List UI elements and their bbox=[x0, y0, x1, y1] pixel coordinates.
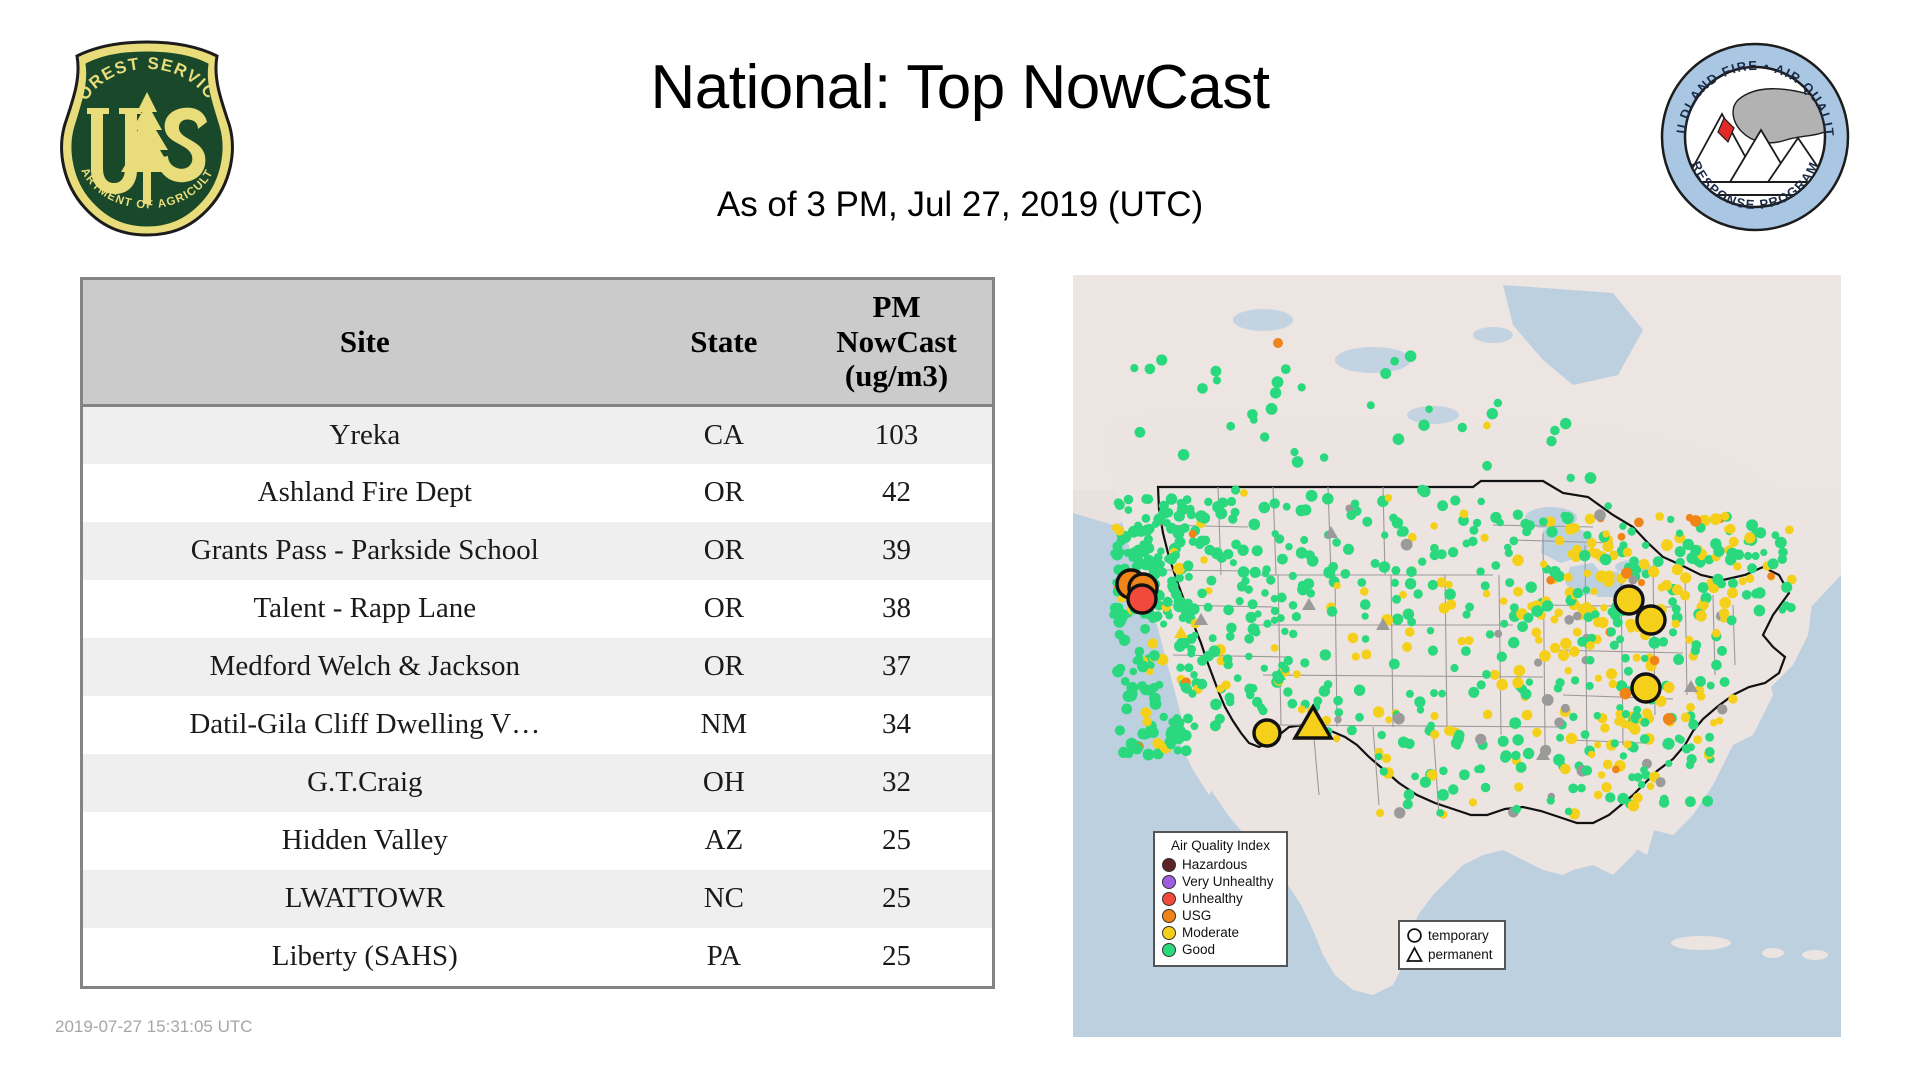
monitor-dot bbox=[1173, 714, 1182, 723]
monitor-dot bbox=[1719, 597, 1731, 609]
monitor-dot bbox=[1540, 560, 1547, 567]
monitor-dot bbox=[1273, 338, 1283, 348]
monitor-dot bbox=[1398, 737, 1409, 748]
monitor-dot bbox=[1181, 745, 1192, 756]
monitor-dot bbox=[1586, 641, 1595, 650]
monitor-dot bbox=[1263, 620, 1271, 628]
monitor-dot bbox=[1673, 654, 1684, 665]
monitor-dot bbox=[1210, 720, 1221, 731]
monitor-dot bbox=[1376, 809, 1384, 817]
monitor-dot bbox=[1115, 630, 1125, 640]
top-nowcast-table: Site State PM NowCast (ug/m3) YrekaCA103… bbox=[80, 277, 995, 989]
monitor-dot bbox=[1663, 713, 1675, 725]
monitor-dot bbox=[1594, 791, 1603, 800]
monitor-dot bbox=[1546, 436, 1556, 446]
monitor-dot bbox=[1223, 654, 1233, 664]
monitor-dot bbox=[1579, 550, 1590, 561]
monitor-dot bbox=[1496, 679, 1508, 691]
monitor-dot bbox=[1184, 663, 1193, 672]
monitor-dot bbox=[1159, 507, 1171, 519]
monitor-dot bbox=[1175, 537, 1186, 548]
monitor-dot bbox=[1475, 734, 1486, 745]
monitor-dot bbox=[1476, 764, 1485, 773]
monitor-dot bbox=[1270, 498, 1280, 508]
monitor-dot bbox=[1389, 659, 1400, 670]
monitor-dot bbox=[1620, 688, 1632, 700]
monitor-dot bbox=[1600, 554, 1612, 566]
monitor-dot bbox=[1712, 574, 1723, 585]
aqi-legend-dot-icon bbox=[1162, 875, 1176, 889]
monitor-dot bbox=[1261, 589, 1269, 597]
monitor-dot bbox=[1491, 561, 1500, 570]
monitor-dot bbox=[1539, 650, 1551, 662]
pm-header-line-1: PM bbox=[805, 290, 988, 325]
monitor-dot bbox=[1702, 796, 1713, 807]
aqi-legend-dot-icon bbox=[1162, 926, 1176, 940]
monitor-dot bbox=[1215, 508, 1227, 520]
table-row: YrekaCA103 bbox=[83, 406, 992, 464]
monitor-dot bbox=[1693, 735, 1702, 744]
monitor-dot bbox=[1187, 645, 1196, 654]
highlight-marker-moderate bbox=[1637, 606, 1665, 634]
monitor-dot bbox=[1655, 512, 1664, 521]
monitor-dot bbox=[1380, 368, 1391, 379]
monitor-dot bbox=[1430, 522, 1438, 530]
monitor-dot bbox=[1512, 805, 1521, 814]
monitor-dot bbox=[1744, 552, 1752, 560]
monitor-dot bbox=[1573, 612, 1582, 621]
monitor-dot bbox=[1564, 615, 1574, 625]
monitor-dot bbox=[1625, 619, 1636, 630]
monitor-dot bbox=[1393, 713, 1405, 725]
pm-cell: 34 bbox=[801, 696, 992, 754]
monitor-dot bbox=[1727, 587, 1738, 598]
monitor-dot bbox=[1778, 555, 1787, 564]
monitor-dot bbox=[1779, 607, 1786, 614]
monitor-dot bbox=[1648, 566, 1659, 577]
monitor-dot bbox=[1767, 572, 1775, 580]
monitor-dot bbox=[1726, 524, 1736, 534]
monitor-dot bbox=[1623, 548, 1632, 557]
monitor-dot bbox=[1130, 668, 1138, 676]
highlight-marker-moderate bbox=[1632, 674, 1660, 702]
monitor-dot bbox=[1156, 354, 1167, 365]
monitor-dot bbox=[1298, 383, 1306, 391]
monitor-dot bbox=[1606, 668, 1617, 679]
monitor-dot bbox=[1560, 418, 1571, 429]
monitor-dot bbox=[1583, 531, 1591, 539]
monitor-dot bbox=[1747, 563, 1757, 573]
monitor-dot bbox=[1227, 497, 1236, 506]
monitor-dot bbox=[1174, 726, 1186, 738]
monitor-dot bbox=[1200, 556, 1208, 564]
monitor-dot bbox=[1185, 573, 1193, 581]
monitor-dot bbox=[1175, 574, 1184, 583]
monitor-dot bbox=[1354, 685, 1365, 696]
monitor-dot bbox=[1569, 646, 1580, 657]
monitor-dot bbox=[1406, 690, 1414, 698]
slide-canvas: FOREST SERVICE DEPARTMENT OF AGRICULTURE bbox=[0, 0, 1920, 1080]
monitor-dot bbox=[1246, 691, 1255, 700]
pm-cell: 39 bbox=[801, 522, 992, 580]
monitor-dot bbox=[1672, 584, 1683, 595]
monitor-dot bbox=[1490, 512, 1501, 523]
monitor-dot bbox=[1582, 602, 1591, 611]
site-cell: Yreka bbox=[83, 406, 647, 464]
aqi-legend-title: Air Quality Index bbox=[1162, 838, 1279, 853]
monitor-dot bbox=[1669, 628, 1677, 636]
monitor-dot bbox=[1623, 740, 1631, 748]
monitor-dot bbox=[1785, 525, 1794, 534]
monitor-dot bbox=[1128, 526, 1140, 538]
monitor-dot bbox=[1550, 643, 1560, 653]
monitor-dot bbox=[1333, 735, 1340, 742]
monitor-dot bbox=[1391, 579, 1399, 587]
monitor-dot bbox=[1634, 518, 1644, 528]
monitor-dot bbox=[1204, 498, 1212, 506]
monitor-dot bbox=[1272, 376, 1284, 388]
monitor-dot bbox=[1590, 588, 1597, 595]
monitor-dot bbox=[1361, 649, 1371, 659]
monitor-dot bbox=[1152, 613, 1161, 622]
monitor-dot bbox=[1171, 589, 1182, 600]
monitor-dot bbox=[1710, 513, 1722, 525]
monitor-dot bbox=[1176, 664, 1184, 672]
monitor-dot bbox=[1710, 719, 1717, 726]
monitor-dot bbox=[1145, 364, 1156, 375]
monitor-dot bbox=[1360, 587, 1369, 596]
monitor-dot bbox=[1166, 612, 1174, 620]
monitor-dot bbox=[1728, 578, 1738, 588]
monitor-dot bbox=[1448, 547, 1458, 557]
monitor-dot bbox=[1373, 706, 1384, 717]
monitor-dot bbox=[1680, 572, 1691, 583]
monitor-dot bbox=[1289, 630, 1297, 638]
pm-header-line-2: NowCast bbox=[805, 325, 988, 360]
monitor-dot bbox=[1565, 667, 1572, 674]
monitor-dot bbox=[1300, 504, 1311, 515]
monitor-dot bbox=[1513, 510, 1523, 520]
monitor-dot bbox=[1584, 570, 1592, 578]
monitor-dot bbox=[1197, 589, 1207, 599]
generated-timestamp: 2019-07-27 15:31:05 UTC bbox=[55, 1017, 253, 1037]
monitor-dot bbox=[1259, 502, 1271, 514]
monitor-dot bbox=[1483, 590, 1491, 598]
site-cell: Liberty (SAHS) bbox=[83, 928, 647, 986]
monitor-dot bbox=[1483, 422, 1491, 430]
monitor-dot bbox=[1504, 544, 1511, 551]
monitor-dot bbox=[1236, 597, 1244, 605]
aqi-legend-row: USG bbox=[1162, 907, 1279, 924]
monitor-dot bbox=[1362, 613, 1369, 620]
monitor-dot bbox=[1428, 646, 1438, 656]
monitor-dot bbox=[1257, 703, 1265, 711]
monitor-dot bbox=[1494, 399, 1502, 407]
monitor-dot bbox=[1649, 637, 1661, 649]
aqi-legend-dot-icon bbox=[1162, 892, 1176, 906]
monitor-dot bbox=[1450, 664, 1458, 672]
monitor-dot bbox=[1390, 357, 1399, 366]
monitor-dot bbox=[1672, 620, 1680, 628]
aqi-legend-label: Moderate bbox=[1182, 925, 1239, 940]
monitor-dot bbox=[1768, 558, 1779, 569]
monitor-dot bbox=[1154, 553, 1163, 562]
monitor-dot bbox=[1512, 677, 1523, 688]
monitor-dot bbox=[1593, 617, 1603, 627]
monitor-dot bbox=[1197, 383, 1208, 394]
highlight-marker-moderate bbox=[1254, 720, 1280, 746]
monitor-dot bbox=[1744, 532, 1755, 543]
monitor-dot bbox=[1728, 694, 1737, 703]
monitor-dot bbox=[1659, 797, 1669, 807]
monitor-dot bbox=[1392, 595, 1401, 604]
monitor-dot bbox=[1143, 749, 1155, 761]
monitor-dot bbox=[1437, 789, 1449, 801]
monitor-dot bbox=[1560, 638, 1572, 650]
monitor-dot bbox=[1352, 653, 1360, 661]
monitor-dot bbox=[1667, 516, 1674, 523]
monitor-dot bbox=[1624, 667, 1633, 676]
monitor-dot bbox=[1616, 635, 1624, 643]
monitor-dot bbox=[1509, 717, 1521, 729]
monitor-dot bbox=[1402, 642, 1412, 652]
monitor-dot bbox=[1522, 710, 1533, 721]
monitor-dot bbox=[1191, 722, 1199, 730]
monitor-dot bbox=[1526, 678, 1533, 685]
monitor-dot bbox=[1707, 682, 1715, 690]
monitor-dot bbox=[1473, 519, 1481, 527]
monitor-dot bbox=[1248, 623, 1260, 635]
monitor-dot bbox=[1206, 576, 1216, 586]
monitor-dot bbox=[1209, 634, 1217, 642]
monitor-dot bbox=[1547, 797, 1555, 805]
column-header-site: Site bbox=[83, 280, 647, 406]
monitor-dot bbox=[1565, 808, 1573, 816]
national-aqi-monitor-map[interactable]: Air Quality Index HazardousVery Unhealth… bbox=[1073, 275, 1841, 1037]
monitor-dot bbox=[1705, 747, 1715, 757]
monitor-dot bbox=[1404, 789, 1415, 800]
monitor-dot bbox=[1250, 567, 1261, 578]
monitor-dot bbox=[1129, 547, 1141, 559]
monitor-dot bbox=[1510, 603, 1519, 612]
monitor-dot bbox=[1174, 746, 1182, 754]
monitor-dot bbox=[1598, 771, 1605, 778]
monitor-dot bbox=[1509, 537, 1518, 546]
monitor-dot bbox=[1430, 544, 1439, 553]
monitor-dot bbox=[1746, 574, 1755, 583]
monitor-dot bbox=[1261, 665, 1268, 672]
monitor-dot bbox=[1566, 733, 1577, 744]
monitor-dot bbox=[1266, 403, 1278, 415]
monitor-dot bbox=[1347, 725, 1357, 735]
monitor-dot bbox=[1531, 627, 1541, 637]
monitor-dot bbox=[1213, 376, 1221, 384]
monitor-dot bbox=[1281, 364, 1291, 374]
monitor-dot bbox=[1245, 653, 1252, 660]
monitor-dot bbox=[1550, 426, 1560, 436]
monitor-dot bbox=[1639, 559, 1650, 570]
monitor-dot bbox=[1605, 792, 1615, 802]
monitor-dot bbox=[1696, 610, 1707, 621]
monitor-dot bbox=[1604, 571, 1615, 582]
monitor-dot bbox=[1298, 705, 1306, 713]
monitor-dot bbox=[1594, 741, 1601, 748]
monitor-dot bbox=[1371, 559, 1380, 568]
monitor-dot bbox=[1178, 449, 1190, 461]
monitor-dot bbox=[1418, 420, 1429, 431]
table-row: Ashland Fire DeptOR42 bbox=[83, 464, 992, 522]
legend-row-permanent: permanent bbox=[1406, 945, 1498, 964]
monitor-dot bbox=[1190, 671, 1198, 679]
monitor-dot bbox=[1621, 567, 1632, 578]
aqi-legend-dot-icon bbox=[1162, 943, 1176, 957]
monitor-dot bbox=[1601, 782, 1611, 792]
state-cell: PA bbox=[647, 928, 802, 986]
monitor-dot bbox=[1281, 665, 1289, 673]
monitor-dot bbox=[1237, 581, 1247, 591]
monitor-dot bbox=[1656, 777, 1666, 787]
monitor-dot bbox=[1468, 537, 1478, 547]
monitor-dot bbox=[1720, 677, 1730, 687]
monitor-dot bbox=[1135, 654, 1143, 662]
monitor-dot bbox=[1549, 566, 1561, 578]
monitor-dot bbox=[1525, 520, 1535, 530]
monitor-dot bbox=[1584, 612, 1594, 622]
monitor-dot bbox=[1238, 566, 1250, 578]
monitor-dot bbox=[1577, 784, 1586, 793]
monitor-dot bbox=[1647, 783, 1655, 791]
monitor-dot bbox=[1290, 448, 1298, 456]
monitor-dot bbox=[1327, 606, 1338, 617]
page-title: National: Top NowCast bbox=[360, 55, 1560, 120]
monitor-dot bbox=[1653, 556, 1664, 567]
monitor-dot bbox=[1638, 781, 1646, 789]
monitor-dot bbox=[1335, 708, 1344, 717]
monitor-dot bbox=[1561, 512, 1569, 520]
column-header-pm-nowcast: PM NowCast (ug/m3) bbox=[801, 280, 992, 406]
monitor-dot bbox=[1289, 572, 1297, 580]
monitor-dot bbox=[1727, 615, 1737, 625]
monitor-dot bbox=[1555, 536, 1565, 546]
monitor-dot bbox=[1406, 567, 1417, 578]
table-row: Medford Welch & JacksonOR37 bbox=[83, 638, 992, 696]
monitor-dot bbox=[1188, 603, 1199, 614]
monitor-dot bbox=[1450, 495, 1460, 505]
monitor-dot bbox=[1607, 627, 1616, 636]
monitor-dot bbox=[1247, 409, 1258, 420]
monitor-dot bbox=[1414, 696, 1425, 707]
monitor-dot bbox=[1226, 632, 1235, 641]
monitor-dot bbox=[1228, 514, 1237, 523]
monitor-dot bbox=[1436, 809, 1444, 817]
monitor-dot bbox=[1477, 498, 1485, 506]
monitor-dot bbox=[1618, 533, 1626, 541]
monitor-dot bbox=[1775, 537, 1787, 549]
highlight-marker-moderate bbox=[1615, 586, 1643, 614]
monitor-dot bbox=[1385, 494, 1393, 502]
monitor-dot bbox=[1513, 587, 1523, 597]
monitor-dot bbox=[1587, 538, 1597, 548]
monitor-dot bbox=[1281, 628, 1288, 635]
monitor-dot bbox=[1124, 495, 1134, 505]
monitor-dot bbox=[1526, 582, 1537, 593]
monitor-dot bbox=[1561, 704, 1570, 713]
monitor-dot bbox=[1461, 646, 1471, 656]
monitor-dot bbox=[1173, 601, 1185, 613]
pm-header-line-3: (ug/m3) bbox=[805, 359, 988, 394]
state-cell: OR bbox=[647, 464, 802, 522]
monitor-dot bbox=[1142, 717, 1151, 726]
monitor-dot bbox=[1216, 685, 1224, 693]
legend-label-temporary: temporary bbox=[1428, 928, 1489, 943]
monitor-dot bbox=[1668, 597, 1677, 606]
monitor-dot bbox=[1642, 542, 1649, 549]
aqi-legend-label: Unhealthy bbox=[1182, 891, 1243, 906]
monitor-dot bbox=[1514, 782, 1523, 791]
monitor-dot bbox=[1609, 680, 1618, 689]
monitor-dot bbox=[1514, 665, 1526, 677]
aqi-legend-row: Hazardous bbox=[1162, 856, 1279, 873]
us-forest-service-shield-icon: FOREST SERVICE DEPARTMENT OF AGRICULTURE bbox=[55, 38, 240, 238]
monitor-dot bbox=[1113, 616, 1125, 628]
monitor-dot bbox=[1195, 510, 1207, 522]
monitor-dot bbox=[1497, 652, 1507, 662]
monitor-dot bbox=[1583, 586, 1590, 593]
monitor-dot bbox=[1633, 794, 1640, 801]
monitor-dot bbox=[1693, 558, 1700, 565]
monitor-dot bbox=[1729, 537, 1739, 547]
monitor-dot bbox=[1697, 692, 1706, 701]
monitor-dot bbox=[1781, 582, 1792, 593]
state-cell: OH bbox=[647, 754, 802, 812]
monitor-dot bbox=[1676, 530, 1683, 537]
monitor-dot bbox=[1411, 773, 1419, 781]
monitor-dot bbox=[1690, 721, 1698, 729]
monitor-dot bbox=[1420, 777, 1431, 788]
monitor-dot bbox=[1171, 551, 1180, 560]
monitor-dot bbox=[1468, 687, 1479, 698]
site-cell: Datil-Gila Cliff Dwelling V… bbox=[83, 696, 647, 754]
monitor-dot bbox=[1418, 558, 1426, 566]
monitor-dot bbox=[1483, 710, 1493, 720]
table-row: Hidden ValleyAZ25 bbox=[83, 812, 992, 870]
monitor-dot bbox=[1754, 605, 1766, 617]
monitor-dot bbox=[1487, 408, 1498, 419]
monitor-dot bbox=[1152, 520, 1160, 528]
monitor-dot bbox=[1115, 725, 1125, 735]
aqi-legend-row: Good bbox=[1162, 941, 1279, 958]
monitor-dot bbox=[1329, 562, 1339, 572]
monitor-dot bbox=[1512, 555, 1524, 567]
monitor-dot bbox=[1459, 769, 1470, 780]
monitor-dot bbox=[1380, 767, 1388, 775]
table-row: Liberty (SAHS)PA25 bbox=[83, 928, 992, 986]
aqi-legend-label: Very Unhealthy bbox=[1182, 874, 1274, 889]
monitor-dot bbox=[1392, 614, 1403, 625]
monitor-dot bbox=[1188, 690, 1196, 698]
monitor-dot bbox=[1695, 676, 1706, 687]
monitor-dot bbox=[1360, 599, 1371, 610]
column-header-state: State bbox=[647, 280, 802, 406]
monitor-dot bbox=[1517, 621, 1528, 632]
monitor-dot bbox=[1521, 689, 1532, 700]
monitor-dot bbox=[1628, 527, 1636, 535]
monitor-dot bbox=[1211, 366, 1222, 377]
monitor-dot bbox=[1701, 601, 1709, 609]
monitor-dot bbox=[1531, 605, 1543, 617]
aqi-legend-row: Very Unhealthy bbox=[1162, 873, 1279, 890]
monitor-dot bbox=[1465, 636, 1474, 645]
